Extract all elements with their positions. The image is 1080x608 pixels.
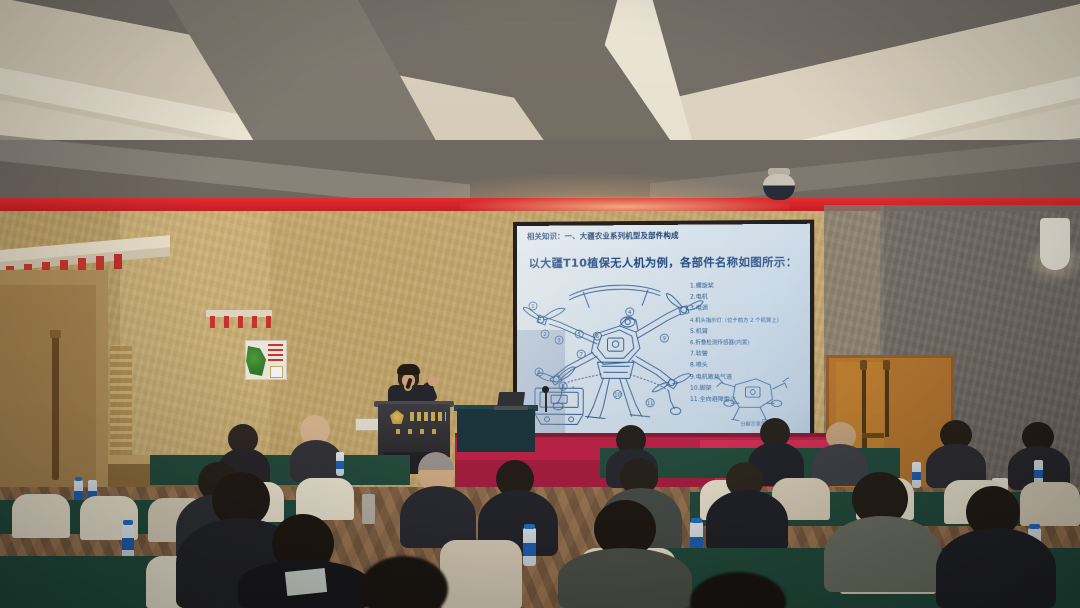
bottle-label: [122, 538, 134, 550]
audience-body: [400, 486, 476, 548]
poster-sub-panel: [270, 366, 283, 378]
parts-list-item: 6.折叠检测传感器(内置): [690, 338, 802, 350]
door-handle-left-top[interactable]: [50, 330, 61, 338]
red-bracket: [114, 254, 122, 269]
svg-text:10: 10: [614, 392, 620, 398]
svg-text:5: 5: [578, 332, 581, 338]
svg-text:4: 4: [628, 310, 631, 316]
slide-heading: 以大疆T10植保无人机为例，各部件名称如图所示：: [517, 253, 810, 271]
door-push-bar[interactable]: [862, 433, 884, 438]
audience-body: [558, 548, 692, 608]
slide-topbar: 相关知识：一、大疆农业系列机型及部件构成: [517, 228, 810, 246]
parts-list-item: 4.机头指示灯（位于前方 2 个机臂上）: [690, 315, 802, 326]
microphone-stand: [545, 390, 547, 412]
wall-lamp-icon: [1040, 218, 1070, 270]
bottle-cap: [691, 518, 702, 523]
audience-body: [290, 440, 342, 482]
red-bracket-small: [210, 316, 215, 328]
bottle-cap: [123, 520, 133, 525]
audience-body: [936, 528, 1056, 608]
poster-text-lines: [268, 344, 283, 364]
parts-list-item: 10.脚架: [690, 384, 802, 396]
lattice-screen: [110, 345, 132, 455]
presenter-fist: [428, 377, 437, 386]
thermos: [362, 494, 375, 524]
svg-text:7: 7: [580, 352, 583, 358]
podium-nameplate-text: [410, 412, 446, 421]
bottle-cap: [1029, 524, 1040, 529]
svg-text:1: 1: [531, 304, 534, 310]
red-bracket-small: [266, 316, 271, 328]
bottle-label: [912, 472, 921, 480]
table-row-far: [150, 455, 410, 485]
audience-body: [824, 516, 942, 592]
svg-text:6: 6: [596, 334, 599, 340]
podium-decor-row: [396, 429, 444, 434]
door-handle-right-a[interactable]: [862, 363, 866, 437]
red-bracket-small: [224, 316, 229, 328]
parts-list-item: 8.喷头: [690, 361, 802, 373]
bottle-label: [1034, 470, 1043, 478]
parts-list-item: 11.全向避障雷达: [690, 395, 802, 407]
slide-topbar-text: 相关知识：一、大疆农业系列机型及部件构成: [527, 231, 679, 242]
conference-room-photo: 相关知识：一、大疆农业系列机型及部件构成 以大疆T10植保无人机为例，各部件名称…: [0, 0, 1080, 608]
parts-list: 1.螺旋桨 2.电机 3.电调 4.机头指示灯（位于前方 2 个机臂上） 5.机…: [690, 281, 802, 407]
door-handle-right-b[interactable]: [885, 363, 889, 437]
parts-list-item: 1.螺旋桨: [690, 281, 802, 293]
parts-list-item: 9.电机散热气道: [690, 372, 802, 384]
svg-text:11: 11: [647, 401, 653, 407]
red-bracket-small: [238, 316, 243, 328]
bottle-cap: [524, 524, 535, 529]
door-handle-right-a-top: [860, 360, 867, 370]
presenter-hair: [397, 364, 420, 375]
svg-text:9: 9: [663, 336, 666, 342]
parts-list-item: 2.电机: [690, 292, 802, 304]
av-table: [457, 409, 535, 452]
dome-security-camera-icon: [763, 174, 795, 200]
bottle-cap: [75, 477, 82, 481]
chair[interactable]: [12, 494, 70, 538]
bottle-label: [523, 543, 536, 556]
bottle-label: [74, 491, 83, 500]
parts-list-item: 7.软管: [690, 349, 802, 361]
chair[interactable]: [440, 540, 522, 608]
parts-list-item: 3.电调: [690, 304, 802, 316]
chair[interactable]: [1020, 482, 1080, 526]
audience-body: [706, 490, 788, 552]
bottle-label: [336, 461, 344, 469]
red-bracket-small: [252, 316, 257, 328]
laptop-base[interactable]: [494, 406, 528, 410]
parts-list-item: 5.机臂: [690, 327, 802, 338]
door-handle-left[interactable]: [52, 330, 59, 480]
door-handle-right-b-top: [883, 360, 890, 370]
microphone-head-icon: [542, 386, 549, 393]
document-on-table[interactable]: [285, 568, 327, 596]
